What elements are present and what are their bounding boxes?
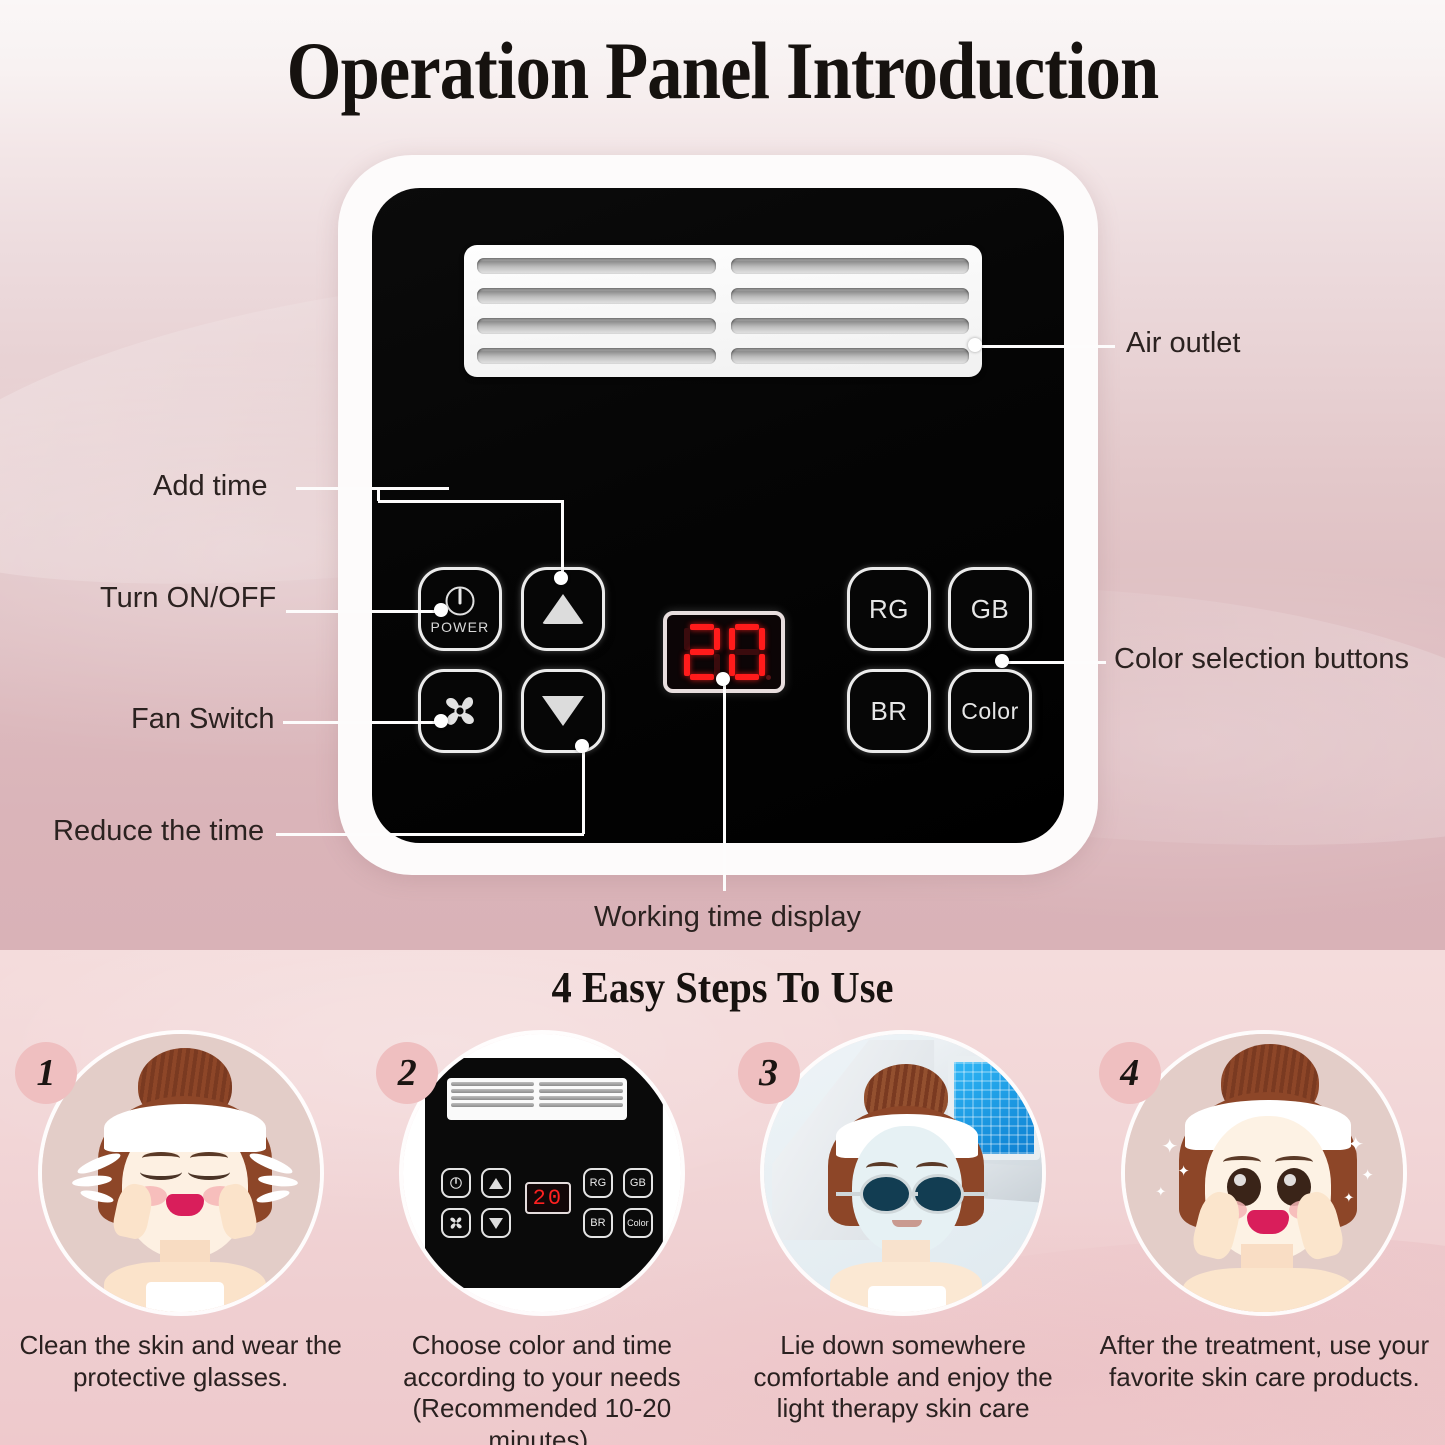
callout-dot-onoff [434, 603, 448, 617]
callout-dot-reduce [575, 739, 589, 753]
grille-row [477, 348, 969, 364]
callout-label-add-time: Add time [153, 470, 267, 503]
grille-row [477, 318, 969, 334]
triangle-down-icon [542, 696, 584, 726]
display-digit-tens [684, 624, 720, 680]
grille-slot [477, 258, 716, 274]
color-button-br-label: BR [870, 696, 907, 727]
color-button-rg[interactable]: RG [847, 567, 931, 651]
color-button-color[interactable]: Color [948, 669, 1032, 753]
step-illustration-2: 20 RG GB BR Color [399, 1030, 685, 1316]
callout-label-fan-switch: Fan Switch [131, 703, 274, 736]
step-item-1: 1 Clean the skin and wear the protective… [0, 1030, 361, 1445]
callout-line-reduce-2 [582, 748, 585, 834]
grille-slot [731, 288, 970, 304]
reduce-time-button[interactable] [521, 669, 605, 753]
power-button-label: POWER [431, 619, 490, 635]
mini-power-button [441, 1168, 471, 1198]
callout-line-add-time-2 [378, 500, 563, 503]
callout-label-working-time: Working time display [594, 901, 861, 934]
step-illustration-3 [760, 1030, 1046, 1316]
callout-line-working-time [723, 679, 726, 891]
step-badge-2: 2 [376, 1042, 438, 1104]
mini-rg-button: RG [583, 1168, 613, 1198]
goggles-left-icon [860, 1174, 912, 1214]
step-badge-4: 4 [1099, 1042, 1161, 1104]
mini-gb-button: GB [623, 1168, 653, 1198]
callout-label-air-outlet: Air outlet [1126, 327, 1240, 360]
callout-label-reduce-time: Reduce the time [53, 815, 264, 848]
mini-display: 20 [525, 1182, 571, 1214]
mini-up-button [481, 1168, 511, 1198]
callout-line-onoff [286, 610, 441, 613]
color-button-rg-label: RG [869, 594, 909, 625]
callout-line-add-time-4 [561, 500, 564, 575]
fan-switch-button[interactable] [418, 669, 502, 753]
color-button-gb-label: GB [971, 594, 1010, 625]
step-badge-3: 3 [738, 1042, 800, 1104]
power-icon [443, 584, 477, 618]
callout-line-color [1002, 661, 1106, 664]
steps-row: 1 Clean the skin and wear the protective… [0, 1030, 1445, 1445]
grille-slot [477, 318, 716, 334]
grille-slot [477, 348, 716, 364]
steps-section-title: 4 Easy Steps To Use [58, 962, 1387, 1013]
grille-slot [731, 258, 970, 274]
color-button-color-label: Color [961, 698, 1018, 725]
triangle-up-icon [542, 594, 584, 624]
step-illustration-4: ✦ ✦ ✦ ✦ ✦ ✦ [1121, 1030, 1407, 1316]
mini-color-button: Color [623, 1208, 653, 1238]
step-item-2: 20 RG GB BR Color 2 Choose color and tim… [361, 1030, 722, 1445]
grille-slot [731, 348, 970, 364]
color-button-br[interactable]: BR [847, 669, 931, 753]
grille-row [477, 288, 969, 304]
step-badge-1: 1 [15, 1042, 77, 1104]
callout-line-fan [283, 721, 441, 724]
step-item-4: ✦ ✦ ✦ ✦ ✦ ✦ 4 After the treatment, use y… [1084, 1030, 1445, 1445]
page-root: Operation Panel Introduction POWER [0, 0, 1445, 1445]
mini-br-button: BR [583, 1208, 613, 1238]
mini-down-button [481, 1208, 511, 1238]
grille-row [477, 258, 969, 274]
callout-label-turn-on-off: Turn ON/OFF [100, 582, 276, 615]
page-title: Operation Panel Introduction [101, 24, 1344, 118]
step-caption-4: After the treatment, use your favorite s… [1095, 1330, 1435, 1393]
callout-line-reduce [276, 833, 584, 836]
callout-dot-air-outlet [968, 338, 982, 352]
callout-line-add-time [296, 487, 449, 490]
mini-fan-button [441, 1208, 471, 1238]
step-item-3: 3 Lie down somewhere comfortable and enj… [723, 1030, 1084, 1445]
step-caption-2: Choose color and time according to your … [372, 1330, 712, 1445]
step-caption-1: Clean the skin and wear the protective g… [11, 1330, 351, 1393]
power-button[interactable]: POWER [418, 567, 502, 651]
callout-dot-add-time [554, 571, 568, 585]
callout-line-add-time-3 [377, 487, 380, 501]
air-outlet-grille [464, 245, 982, 377]
color-button-gb[interactable]: GB [948, 567, 1032, 651]
step-illustration-1 [38, 1030, 324, 1316]
goggles-right-icon [912, 1174, 964, 1214]
callout-dot-fan [434, 714, 448, 728]
grille-slot [731, 318, 970, 334]
step-caption-3: Lie down somewhere comfortable and enjoy… [733, 1330, 1073, 1425]
display-digit-ones [729, 624, 765, 680]
callout-label-color-selection: Color selection buttons [1114, 643, 1409, 676]
callout-line-air-outlet [975, 345, 1115, 348]
callout-dot-working-time [716, 672, 730, 686]
callout-dot-color [995, 654, 1009, 668]
grille-slot [477, 288, 716, 304]
